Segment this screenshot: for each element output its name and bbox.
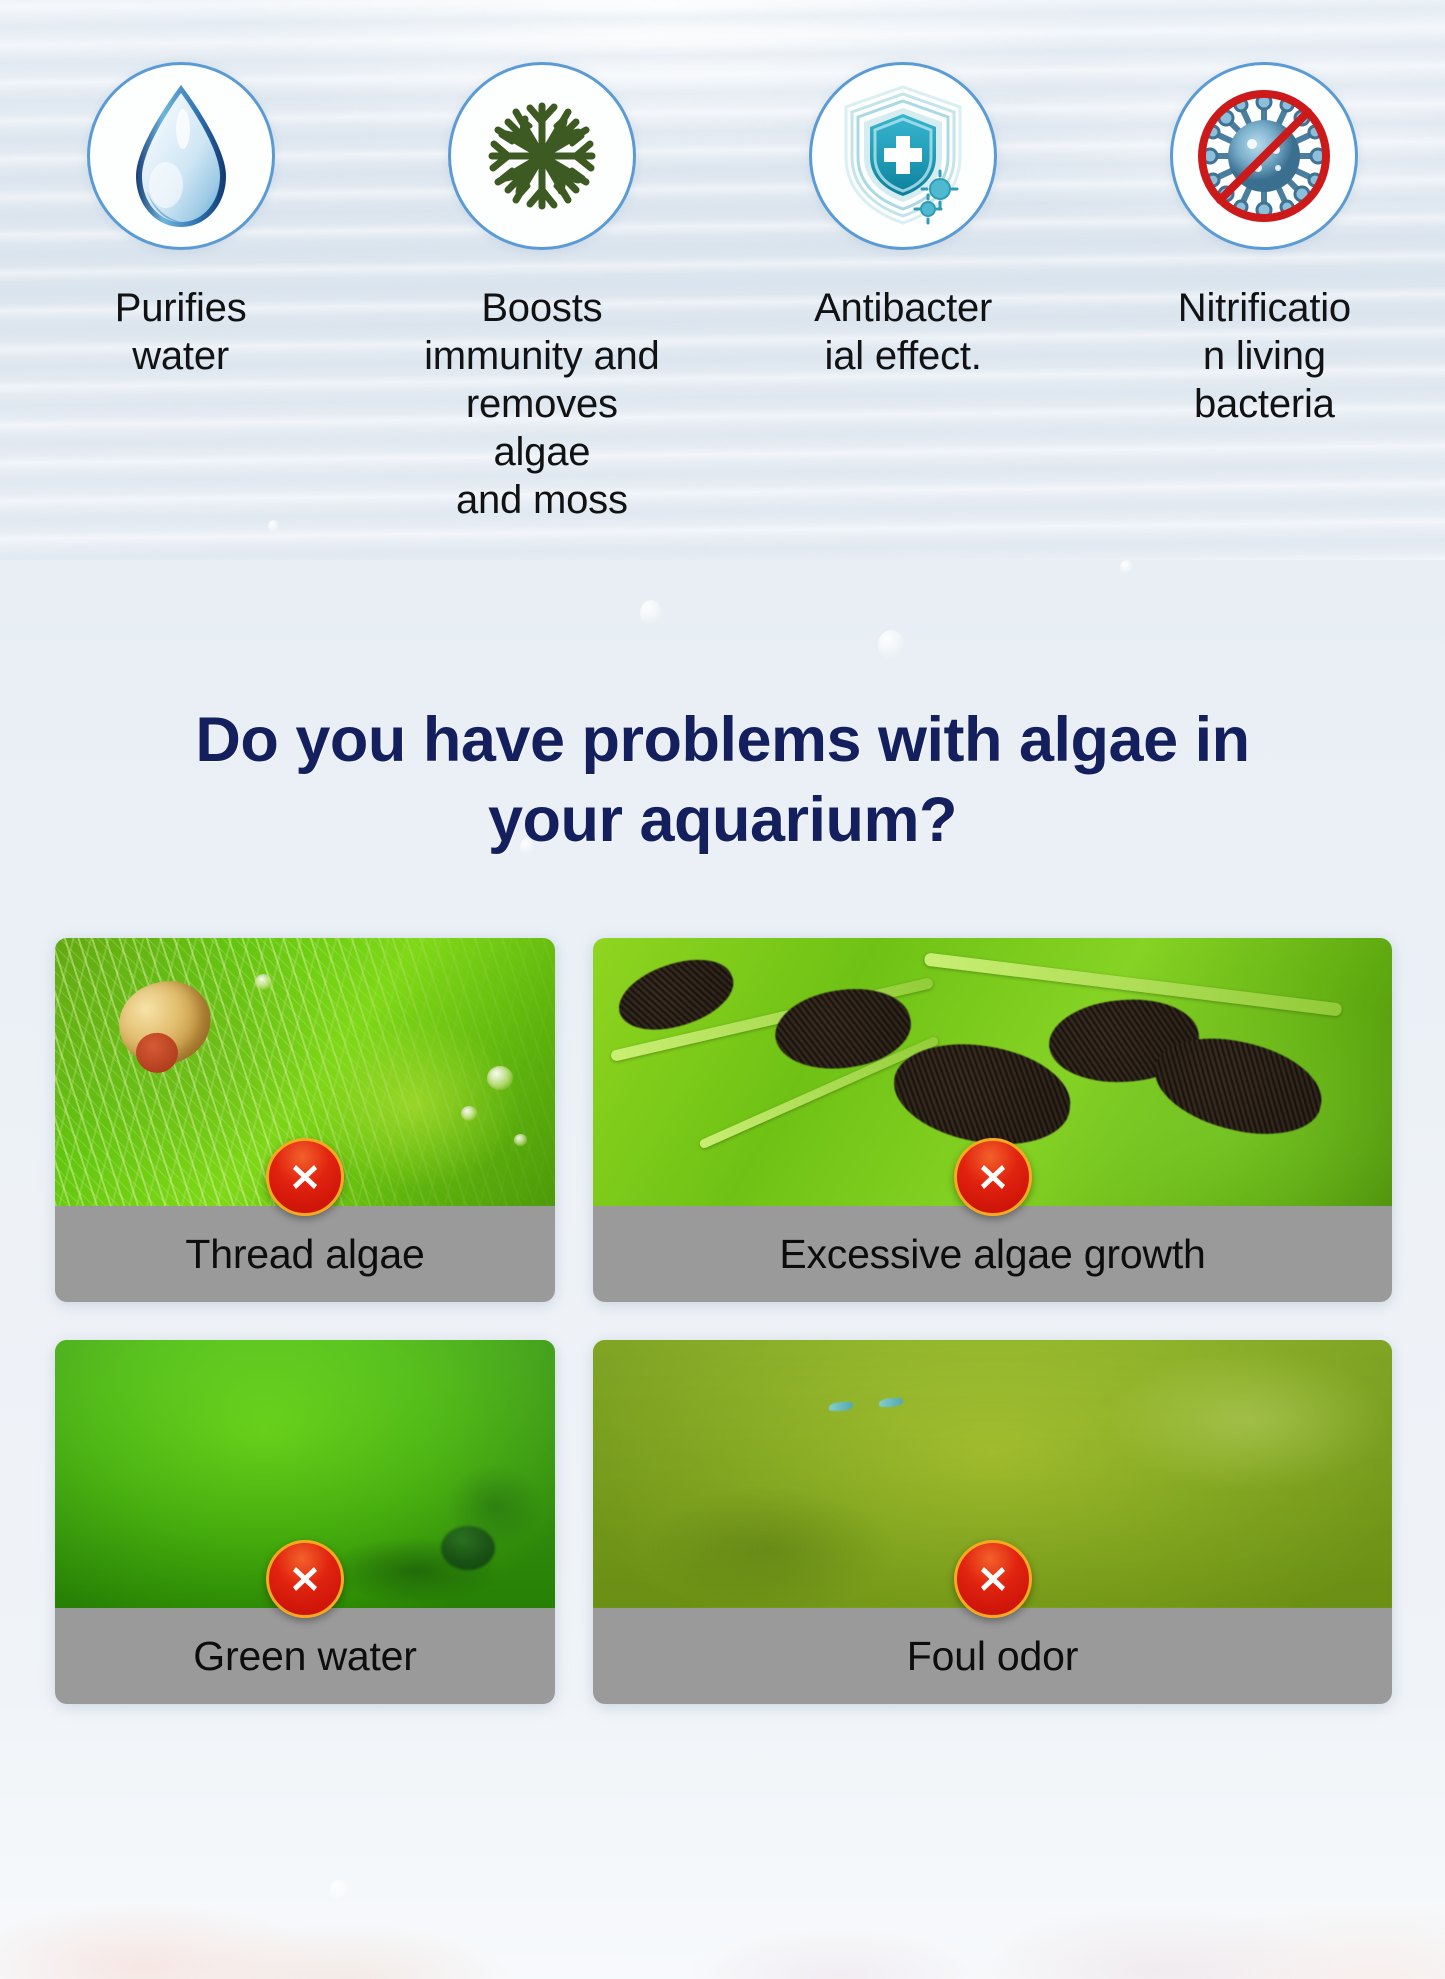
bubble-shape (487, 1066, 513, 1090)
fish-shape (829, 1402, 853, 1411)
fish-shape (879, 1398, 903, 1407)
card-caption: Excessive algae growth (593, 1206, 1392, 1302)
bubble-speck (878, 630, 904, 660)
bubble-shape (461, 1106, 477, 1121)
infographic-page: Purifies water (0, 0, 1445, 1979)
problem-card[interactable]: Foul odor (593, 1340, 1392, 1704)
card-caption: Thread algae (55, 1206, 555, 1302)
feature-item-nitrification: Nitrificatio n living bacteria (1084, 62, 1445, 524)
feature-badge (809, 62, 997, 250)
no-bacteria-icon (1188, 80, 1340, 232)
feature-label: Nitrificatio n living bacteria (1138, 284, 1390, 428)
algae-coral-icon (472, 86, 612, 226)
feature-row: Purifies water (0, 62, 1445, 524)
card-caption: Green water (55, 1608, 555, 1704)
card-caption: Foul odor (593, 1608, 1392, 1704)
bubble-speck (330, 1880, 348, 1900)
card-inner: Excessive algae growth (593, 938, 1392, 1302)
card-inner: Thread algae (55, 938, 555, 1302)
dark-rock-shape (441, 1526, 495, 1570)
feature-item-antibacterial: Antibacter ial effect. (723, 62, 1084, 524)
shield-cross-icon (828, 81, 978, 231)
x-mark-icon (266, 1540, 344, 1618)
problem-card[interactable]: Green water (55, 1340, 555, 1704)
card-inner: Foul odor (593, 1340, 1392, 1704)
x-mark-icon (954, 1540, 1032, 1618)
x-mark-icon (266, 1138, 344, 1216)
water-drop-icon (122, 81, 240, 231)
problem-card-grid: Thread algae (55, 938, 1392, 1704)
x-mark-icon (954, 1138, 1032, 1216)
problem-card[interactable]: Excessive algae growth (593, 938, 1392, 1302)
problem-card[interactable]: Thread algae (55, 938, 555, 1302)
bubble-speck (640, 600, 662, 626)
feature-badge (448, 62, 636, 250)
bubble-speck (1120, 560, 1133, 575)
feature-label: Antibacter ial effect. (777, 284, 1029, 380)
feature-label: Purifies water (55, 284, 307, 380)
feature-item-purifies-water: Purifies water (0, 62, 361, 524)
feature-label: Boosts immunity and removes algae and mo… (416, 284, 668, 524)
feature-badge (1170, 62, 1358, 250)
bubble-shape (514, 1134, 527, 1146)
feature-item-boosts-immunity: Boosts immunity and removes algae and mo… (361, 62, 722, 524)
bubble-shape (255, 974, 272, 990)
card-inner: Green water (55, 1340, 555, 1704)
feature-badge (87, 62, 275, 250)
page-title: Do you have problems with algae in your … (93, 700, 1353, 860)
snail-shape (110, 972, 219, 1074)
